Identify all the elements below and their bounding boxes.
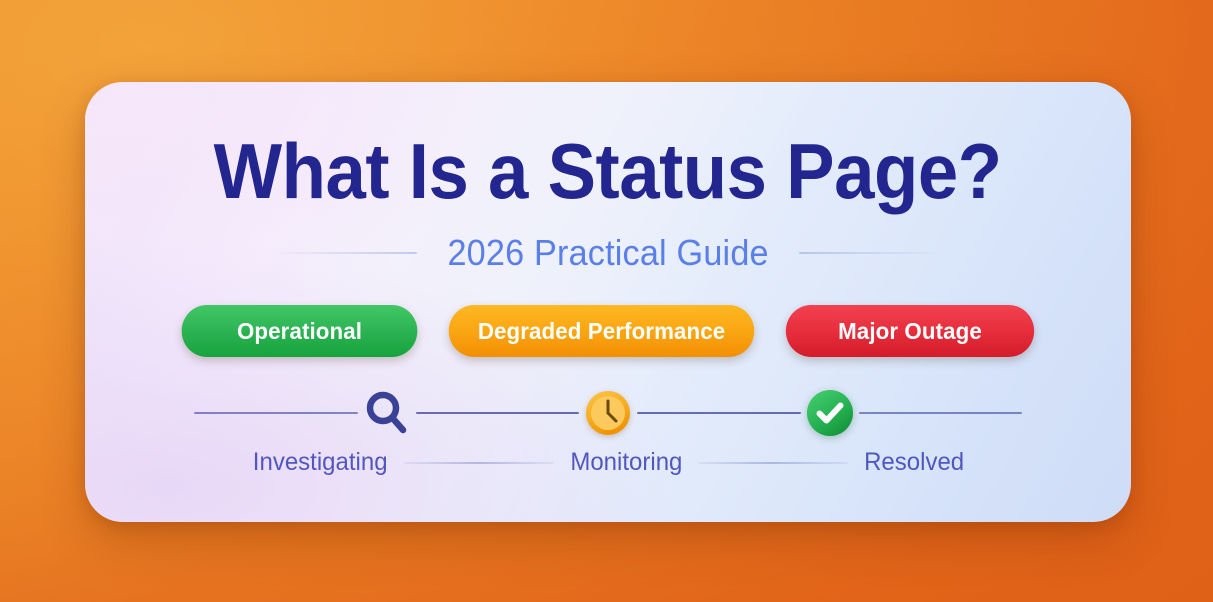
timeline-node-monitoring[interactable] xyxy=(579,384,637,442)
incident-timeline: Investigating Monitoring Resolved xyxy=(194,384,1022,477)
timeline-label-monitoring: Monitoring xyxy=(570,448,682,477)
clock-icon xyxy=(584,389,632,437)
check-circle-icon xyxy=(805,388,855,438)
page-subtitle: 2026 Practical Guide xyxy=(447,232,768,274)
timeline-rail-1 xyxy=(416,412,580,415)
status-pill-degraded-performance[interactable]: Degraded Performance xyxy=(449,305,755,357)
timeline-label-rule-1 xyxy=(404,462,553,464)
subtitle-row: 2026 Practical Guide xyxy=(279,232,937,274)
timeline-rail-start xyxy=(194,412,358,415)
status-pill-group: Operational Degraded Performance Major O… xyxy=(178,305,1038,357)
subtitle-rule-right xyxy=(799,252,937,254)
page-title: What Is a Status Page? xyxy=(214,132,1002,210)
timeline-node-resolved[interactable] xyxy=(801,384,859,442)
timeline-label-resolved: Resolved xyxy=(864,448,964,477)
timeline-rail-2 xyxy=(637,412,801,415)
timeline-track xyxy=(194,384,1022,442)
subtitle-rule-left xyxy=(279,252,417,254)
status-pill-major-outage[interactable]: Major Outage xyxy=(786,305,1034,357)
card-content: What Is a Status Page? 2026 Practical Gu… xyxy=(85,82,1131,522)
magnifying-glass-icon xyxy=(362,388,412,438)
timeline-labels: Investigating Monitoring Resolved xyxy=(194,448,1022,477)
timeline-rail-end xyxy=(859,412,1023,415)
status-page-card: What Is a Status Page? 2026 Practical Gu… xyxy=(85,82,1131,522)
timeline-label-rule-2 xyxy=(698,462,847,464)
timeline-node-investigating[interactable] xyxy=(358,384,416,442)
status-pill-operational[interactable]: Operational xyxy=(182,305,418,357)
timeline-label-investigating: Investigating xyxy=(253,448,388,477)
